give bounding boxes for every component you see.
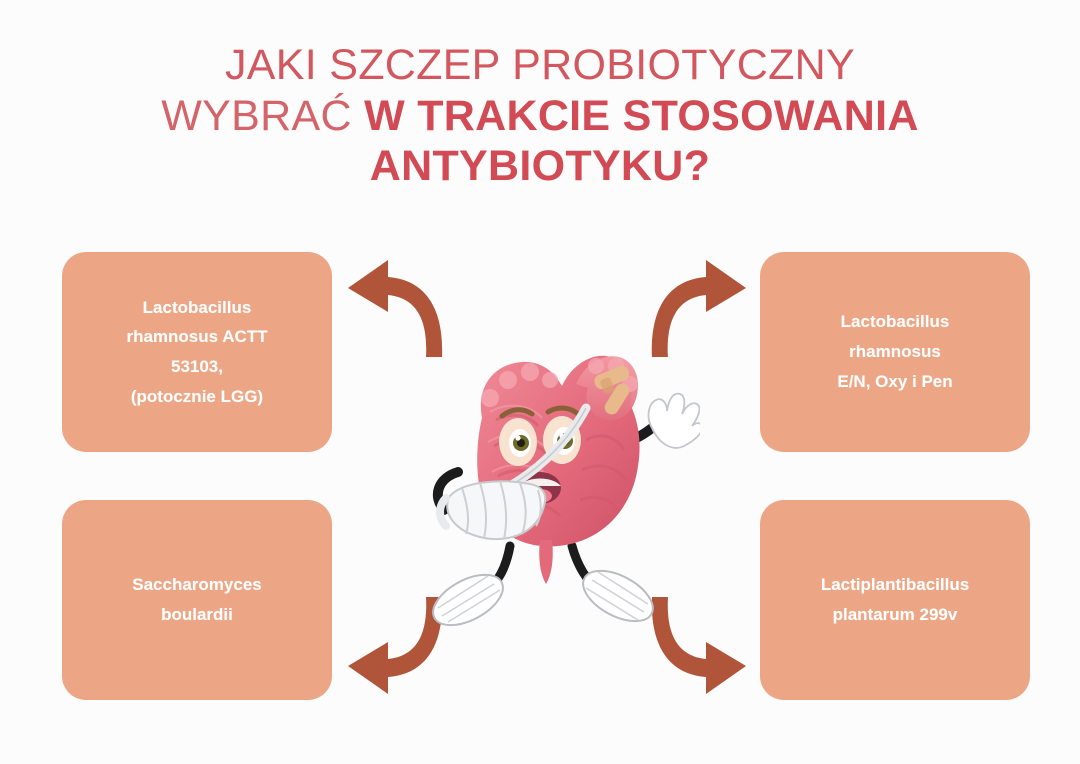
injured-intestine-character-illustration	[390, 300, 700, 630]
strain-box-bottom-left-label: Saccharomyces boulardii	[132, 570, 261, 630]
strain-box-bottom-right-label: Lactiplantibacillus plantarum 299v	[821, 570, 969, 630]
strain-box-top-left-label: Lactobacillus rhamnosus ACTT 53103, (pot…	[126, 293, 267, 412]
title-line-2-bold: W TRAKCIE STOSOWANIA	[364, 92, 919, 140]
title-line-1: JAKI SZCZEP PROBIOTYCZNY	[0, 40, 1080, 91]
strain-box-top-left[interactable]: Lactobacillus rhamnosus ACTT 53103, (pot…	[62, 252, 332, 452]
page-title: JAKI SZCZEP PROBIOTYCZNY WYBRAĆ W TRAKCI…	[0, 40, 1080, 192]
strain-box-top-right-label: Lactobacillus rhamnosus E/N, Oxy i Pen	[837, 307, 952, 396]
title-line-2-regular: WYBRAĆ	[161, 92, 364, 140]
title-line-2: WYBRAĆ W TRAKCIE STOSOWANIA	[0, 91, 1080, 142]
strain-box-top-right[interactable]: Lactobacillus rhamnosus E/N, Oxy i Pen	[760, 252, 1030, 452]
strain-box-bottom-left[interactable]: Saccharomyces boulardii	[62, 500, 332, 700]
infographic-root: JAKI SZCZEP PROBIOTYCZNY WYBRAĆ W TRAKCI…	[0, 0, 1080, 764]
strain-box-bottom-right[interactable]: Lactiplantibacillus plantarum 299v	[760, 500, 1030, 700]
title-line-3: ANTYBIOTYKU?	[0, 141, 1080, 192]
